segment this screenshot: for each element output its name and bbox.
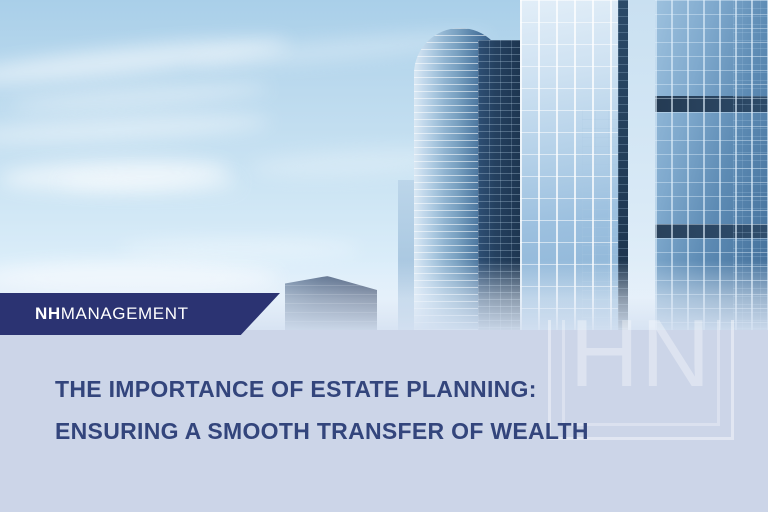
tower-band [655,96,768,112]
dark-tower-slab [478,40,522,330]
page-title: THE IMPORTANCE OF ESTATE PLANNING: ENSUR… [55,368,715,452]
bright-glass-tower [520,0,632,330]
article-hero-banner: HN NHMANAGEMENT THE IMPORTANCE OF ESTATE… [0,0,768,512]
cloud-wisp [120,240,360,258]
skyline-photo [0,0,768,330]
tower-band [655,224,768,238]
brand-logo-text: NHMANAGEMENT [35,304,189,324]
brand-logo-bold: NH [35,304,61,323]
page-title-line-1-rest: ESTATE PLANNING: [304,376,537,402]
brand-logo-banner[interactable]: NHMANAGEMENT [0,293,280,335]
cloud-wisp [60,175,240,191]
page-title-line-2: ENSURING A SMOOTH TRANSFER OF WEALTH [55,410,715,452]
cloud-wisp [10,79,271,115]
page-title-emphasis: THE IMPORTANCE OF [55,376,304,402]
right-corner-tower [655,0,768,330]
brand-logo-light: MANAGEMENT [61,304,189,323]
cloud-wisp [0,110,270,148]
sky-gap-column [628,0,656,330]
tower-side-face [733,0,768,330]
page-title-line-1: THE IMPORTANCE OF ESTATE PLANNING: [55,368,715,410]
cloud-wisp [0,262,280,296]
midground-building [285,276,377,330]
